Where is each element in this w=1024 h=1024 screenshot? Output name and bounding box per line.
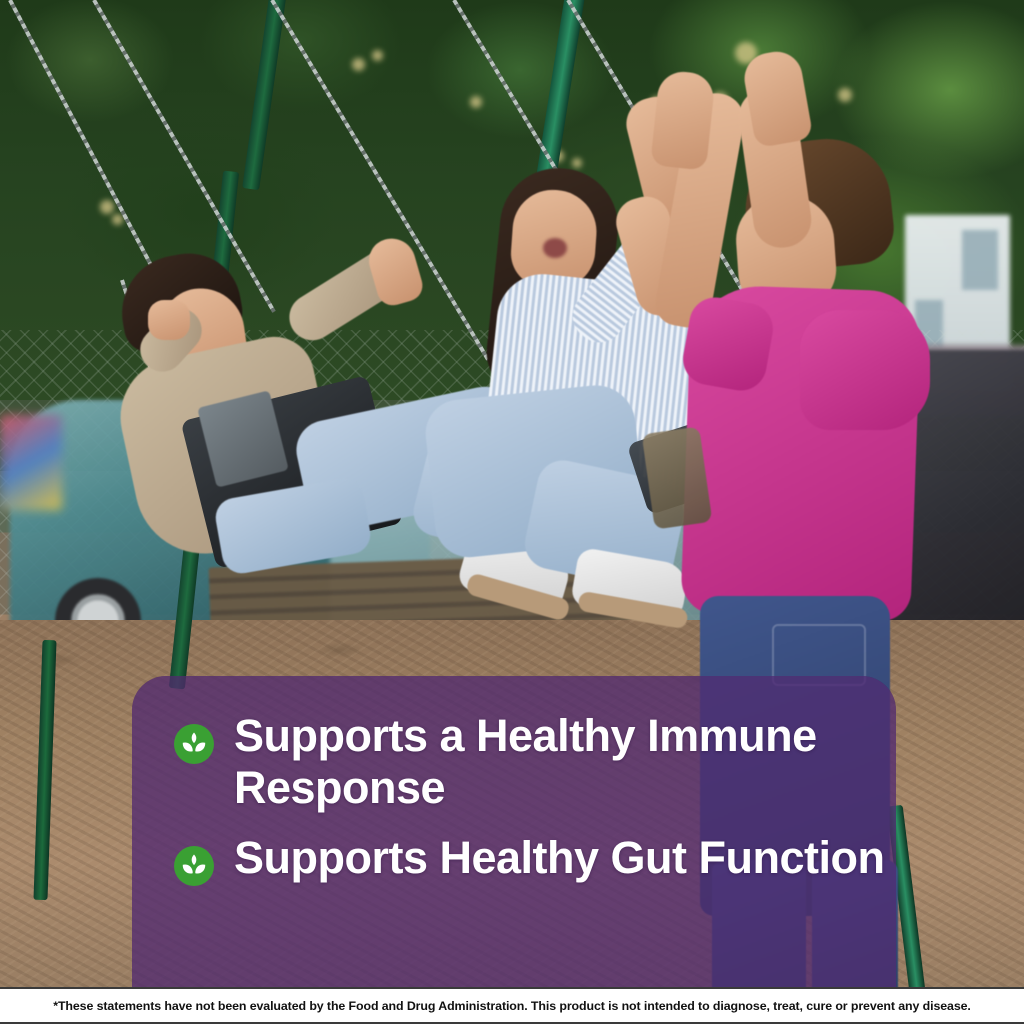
bokeh-light	[100, 200, 114, 214]
bokeh-light	[572, 158, 582, 168]
bokeh-light	[838, 88, 852, 102]
bokeh-light	[372, 50, 383, 61]
man-hand-left	[650, 69, 716, 170]
fda-disclaimer-bar: *These statements have not been evaluate…	[0, 987, 1024, 1024]
benefit-list: Supports a Healthy Immune Response* Supp…	[132, 676, 896, 987]
boy-fist	[148, 300, 190, 340]
house-window	[962, 230, 998, 290]
benefit-text-gut: Supports Healthy Gut Function	[234, 832, 884, 884]
advertisement-image: Supports a Healthy Immune Response* Supp…	[0, 0, 1024, 1024]
bokeh-light	[352, 58, 365, 71]
fda-disclaimer-text: *These statements have not been evaluate…	[0, 999, 1024, 1013]
benefit-text-immune: Supports a Healthy Immune Response	[234, 710, 894, 814]
leaf-sprout-icon	[174, 724, 214, 764]
man-hood	[800, 310, 930, 430]
woman-mouth	[543, 238, 567, 258]
bokeh-light	[470, 96, 482, 108]
bokeh-light	[112, 214, 123, 225]
benefit-item-immune: Supports a Healthy Immune Response*	[174, 710, 896, 814]
benefit-item-gut: Supports Healthy Gut Function*	[174, 832, 896, 886]
leaf-sprout-icon	[174, 846, 214, 886]
playground-sign	[0, 415, 62, 510]
